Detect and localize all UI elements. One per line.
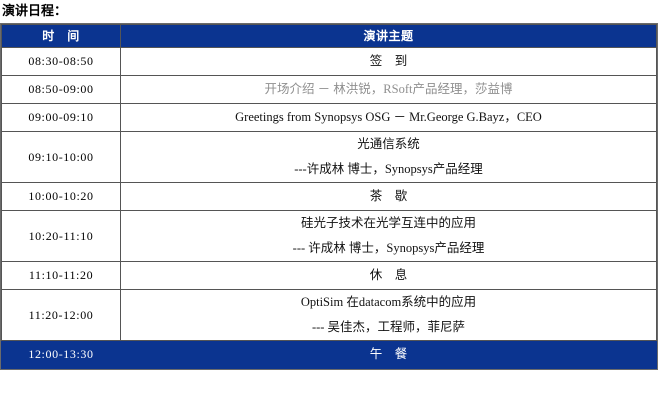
schedule-topic: OptiSim 在datacom系统中的应用--- 吴佳杰，工程师，菲尼萨 — [121, 290, 657, 341]
schedule-topic-line: --- 许成林 博士，Synopsys产品经理 — [121, 240, 656, 257]
schedule-topic: 光通信系统---许成林 博士，Synopsys产品经理 — [121, 132, 657, 183]
schedule-topic: 硅光子技术在光学互连中的应用--- 许成林 博士，Synopsys产品经理 — [121, 211, 657, 262]
table-header-row: 时 间 演讲主题 — [2, 25, 657, 48]
schedule-topic-line: 开场介绍 － 林洪锐，RSoft产品经理，莎益博 — [121, 81, 656, 98]
schedule-time: 12:00-13:30 — [2, 341, 121, 369]
schedule-topic-line: OptiSim 在datacom系统中的应用 — [121, 294, 656, 311]
table-row: 10:20-11:10硅光子技术在光学互连中的应用--- 许成林 博士，Syno… — [2, 211, 657, 262]
schedule-time: 08:50-09:00 — [2, 76, 121, 104]
schedule-topic-line: 休 息 — [121, 267, 656, 284]
table-row: 09:00-09:10Greetings from Synopsys OSG －… — [2, 104, 657, 132]
schedule-topic: 午 餐 — [121, 341, 657, 369]
schedule-topic-line: ---许成林 博士，Synopsys产品经理 — [121, 161, 656, 178]
schedule-topic-line: 硅光子技术在光学互连中的应用 — [121, 215, 656, 232]
table-row: 12:00-13:30午 餐 — [2, 341, 657, 369]
table-row: 08:30-08:50签 到 — [2, 48, 657, 76]
schedule-topic-line: 光通信系统 — [121, 136, 656, 153]
table-row: 08:50-09:00开场介绍 － 林洪锐，RSoft产品经理，莎益博 — [2, 76, 657, 104]
table-row: 09:10-10:00光通信系统---许成林 博士，Synopsys产品经理 — [2, 132, 657, 183]
schedule-topic: 茶 歇 — [121, 183, 657, 211]
schedule-time: 11:10-11:20 — [2, 262, 121, 290]
schedule-topic: 开场介绍 － 林洪锐，RSoft产品经理，莎益博 — [121, 76, 657, 104]
schedule-time: 09:00-09:10 — [2, 104, 121, 132]
page-title: 演讲日程： — [0, 0, 660, 23]
schedule-time: 10:00-10:20 — [2, 183, 121, 211]
column-header-topic: 演讲主题 — [121, 25, 657, 48]
schedule-topic-line: 茶 歇 — [121, 188, 656, 205]
table-body: 08:30-08:50签 到08:50-09:00开场介绍 － 林洪锐，RSof… — [2, 48, 657, 369]
table-row: 10:00-10:20茶 歇 — [2, 183, 657, 211]
schedule-topic-line: 签 到 — [121, 53, 656, 70]
table-row: 11:20-12:00OptiSim 在datacom系统中的应用--- 吴佳杰… — [2, 290, 657, 341]
schedule-topic: Greetings from Synopsys OSG － Mr.George … — [121, 104, 657, 132]
schedule-topic-line: 午 餐 — [121, 346, 656, 363]
schedule-topic-line: --- 吴佳杰，工程师，菲尼萨 — [121, 319, 656, 336]
schedule-topic: 休 息 — [121, 262, 657, 290]
schedule-table: 时 间 演讲主题 08:30-08:50签 到08:50-09:00开场介绍 －… — [1, 24, 657, 369]
schedule-time: 11:20-12:00 — [2, 290, 121, 341]
column-header-time: 时 间 — [2, 25, 121, 48]
schedule-table-container: 时 间 演讲主题 08:30-08:50签 到08:50-09:00开场介绍 －… — [0, 23, 658, 370]
schedule-topic-line: Greetings from Synopsys OSG － Mr.George … — [121, 109, 656, 126]
schedule-time: 10:20-11:10 — [2, 211, 121, 262]
table-row: 11:10-11:20休 息 — [2, 262, 657, 290]
schedule-time: 09:10-10:00 — [2, 132, 121, 183]
schedule-time: 08:30-08:50 — [2, 48, 121, 76]
schedule-topic: 签 到 — [121, 48, 657, 76]
table-header: 时 间 演讲主题 — [2, 25, 657, 48]
